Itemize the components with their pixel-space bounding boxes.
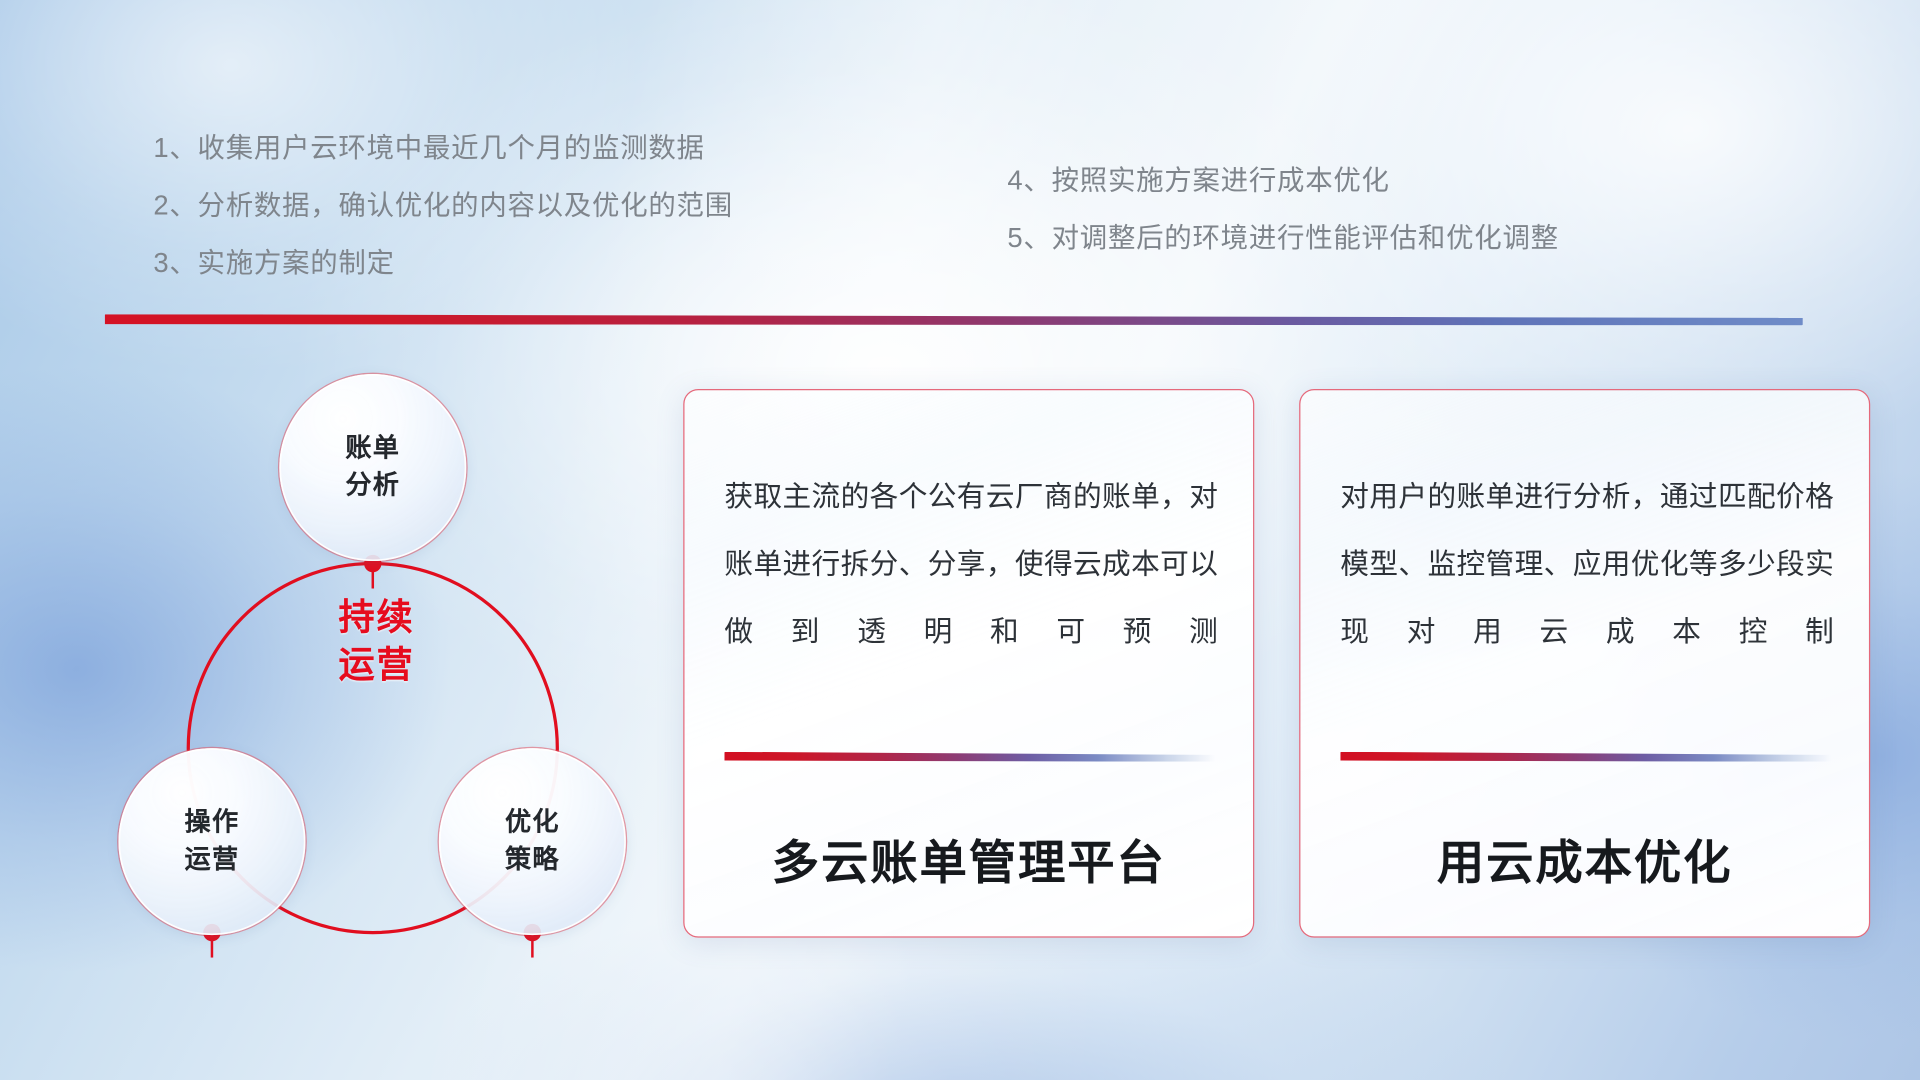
section-divider (105, 314, 1803, 325)
card-accent-rule (1340, 752, 1831, 762)
card-title: 多云账单管理平台 (684, 824, 1253, 893)
bubble-label-line2: 策略 (505, 845, 560, 874)
process-step-2: 2、分析数据，确认优化的内容以及优化的范围 (153, 177, 901, 234)
card-multi-cloud-billing-platform[interactable]: 获取主流的各个公有云厂商的账单，对账单进行拆分、分享，使得云成本可以做到透明和可… (683, 389, 1254, 938)
center-label-line1: 持续 (338, 598, 414, 638)
process-steps-right: 4、按照实施方案进行成本优化 5、对调整后的环境进行性能评估和优化调整 (1007, 152, 1780, 267)
card-body-text: 对用户的账单进行分析，通过匹配价格模型、监控管理、应用优化等多少段实现对用云成本… (1340, 463, 1834, 665)
process-steps-left: 1、收集用户云环境中最近几个月的监测数据 2、分析数据，确认优化的内容以及优化的… (153, 120, 901, 292)
process-step-1: 1、收集用户云环境中最近几个月的监测数据 (153, 120, 901, 177)
diagram-bubble-operations[interactable]: 操作 运营 (118, 748, 305, 935)
bubble-label-line1: 优化 (505, 808, 560, 837)
slide-content: 1、收集用户云环境中最近几个月的监测数据 2、分析数据，确认优化的内容以及优化的… (0, 0, 1920, 1080)
bubble-label-line1: 操作 (185, 808, 240, 837)
process-step-3: 3、实施方案的制定 (153, 234, 901, 291)
bubble-label-line1: 账单 (345, 434, 400, 463)
card-body-text: 获取主流的各个公有云厂商的账单，对账单进行拆分、分享，使得云成本可以做到透明和可… (724, 463, 1218, 665)
card-cloud-cost-optimization[interactable]: 对用户的账单进行分析，通过匹配价格模型、监控管理、应用优化等多少段实现对用云成本… (1299, 389, 1870, 938)
process-step-5: 5、对调整后的环境进行性能评估和优化调整 (1007, 209, 1780, 266)
bubble-label-line2: 运营 (185, 845, 240, 874)
bubble-label-line2: 分析 (345, 471, 400, 500)
bubble-label-optimization-strategy: 优化 策略 (505, 804, 560, 878)
bubble-label-operations: 操作 运营 (185, 804, 240, 878)
diagram-center-label: 持续 运营 (289, 596, 464, 690)
card-title: 用云成本优化 (1300, 824, 1869, 893)
section-divider-bar (105, 314, 1803, 325)
center-label-line2: 运营 (338, 645, 414, 685)
card-accent-rule (724, 752, 1215, 762)
diagram-bubble-optimization-strategy[interactable]: 优化 策略 (439, 748, 626, 935)
bubble-label-bill-analysis: 账单 分析 (345, 430, 400, 504)
continuous-operations-diagram: 账单 分析 操作 运营 优化 策略 持续 运营 (100, 352, 649, 963)
process-step-4: 4、按照实施方案进行成本优化 (1007, 152, 1780, 209)
diagram-bubble-bill-analysis[interactable]: 账单 分析 (279, 374, 466, 561)
